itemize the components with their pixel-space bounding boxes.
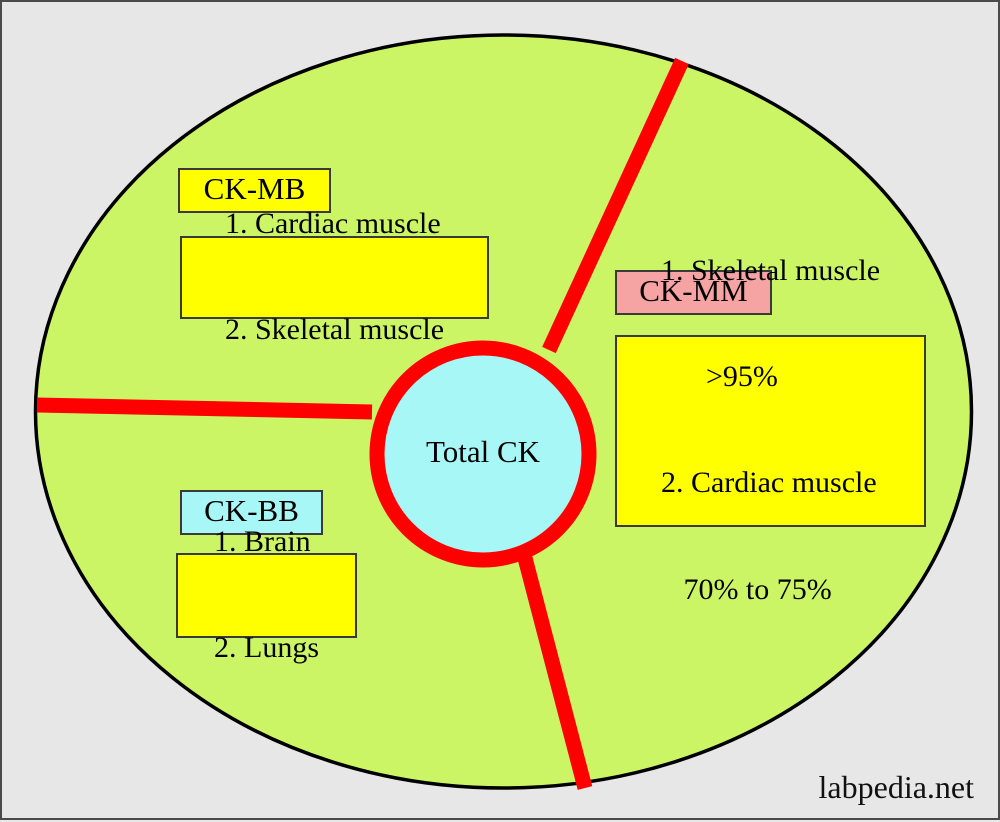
list-item: 2. Skeletal muscle [225, 312, 444, 347]
ck-mm-detail-box: 1. Skeletal muscle >95% 2. Cardiac muscl… [615, 335, 926, 527]
list-item: >95% [661, 359, 880, 394]
ck-mm-detail-lines: 1. Skeletal muscle >95% 2. Cardiac muscl… [661, 182, 880, 677]
ck-mb-detail-lines: 1. Cardiac muscle 2. Skeletal muscle [225, 135, 444, 418]
list-item: 1. Brain [214, 524, 319, 559]
list-item: 1. Skeletal muscle [661, 253, 880, 288]
total-ck-label: Total CK [383, 434, 583, 470]
list-item: 2. Cardiac muscle [661, 465, 880, 500]
list-item: 70% to 75% [661, 572, 880, 607]
diagram-canvas: CK-MB 1. Cardiac muscle 2. Skeletal musc… [0, 0, 1000, 820]
list-item: 2. Lungs [214, 630, 319, 665]
list-item: 1. Cardiac muscle [225, 206, 444, 241]
ck-mb-detail-box: 1. Cardiac muscle 2. Skeletal muscle [180, 236, 489, 319]
watermark: labpedia.net [819, 769, 974, 806]
ck-bb-detail-lines: 1. Brain 2. Lungs [214, 453, 319, 736]
ck-bb-detail-box: 1. Brain 2. Lungs [176, 553, 357, 638]
